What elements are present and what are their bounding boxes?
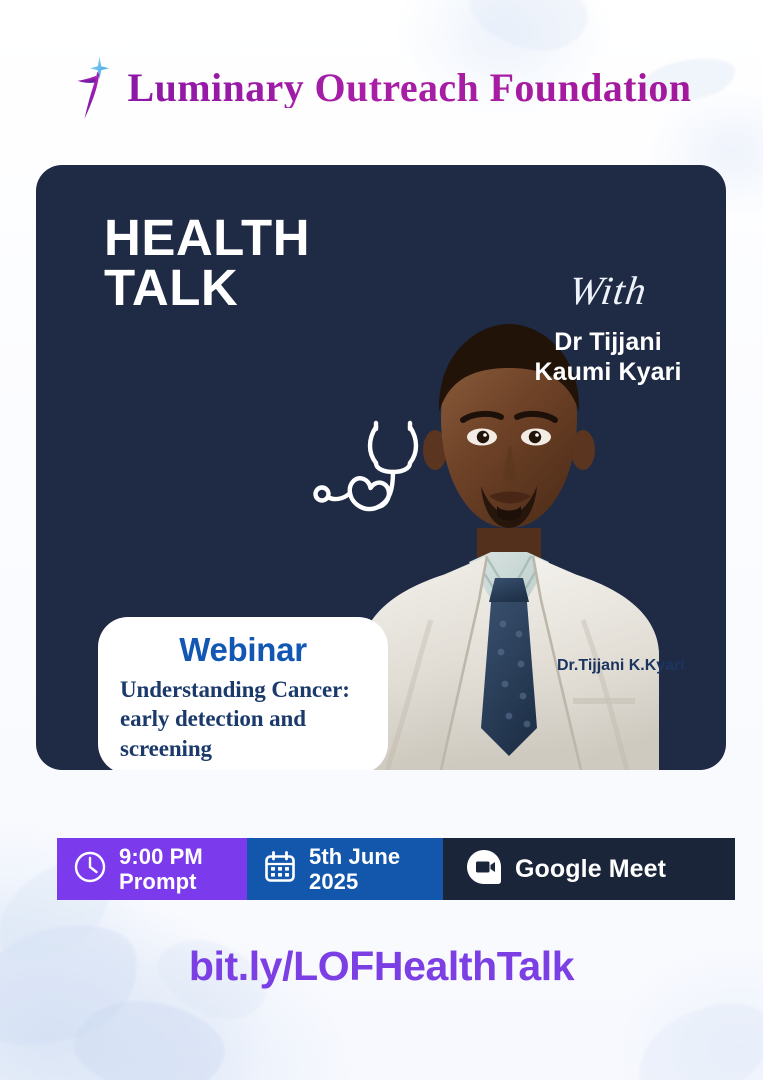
event-time: 9:00 PM Prompt — [119, 844, 203, 894]
background-leaf-watermark — [66, 987, 232, 1080]
speaker-name-line-1: Dr Tijjani — [508, 327, 708, 357]
event-date-line-2: 2025 — [309, 869, 400, 894]
title-line-1: HEALTH — [104, 213, 310, 263]
title-line-2: TALK — [104, 263, 310, 313]
speaker-name: Dr Tijjani Kaumi Kyari — [508, 327, 708, 387]
event-time-line-2: Prompt — [119, 869, 203, 894]
background-leaf-watermark — [623, 987, 763, 1080]
clock-icon — [73, 850, 107, 889]
event-time-line-1: 9:00 PM — [119, 844, 203, 869]
stethoscope-heart-icon — [306, 413, 424, 525]
info-segment-platform: Google Meet — [443, 838, 735, 900]
webinar-topic: Understanding Cancer: early detection an… — [120, 675, 366, 763]
hero-card: HEALTH TALK — [36, 165, 726, 770]
flyer-canvas: Luminary Outreach Foundation HEALTH TALK — [0, 0, 763, 1080]
brand-name: Luminary Outreach Foundation — [128, 68, 692, 108]
speaker-block: With Dr Tijjani Kaumi Kyari — [508, 271, 708, 387]
google-meet-icon — [465, 848, 503, 891]
event-date: 5th June 2025 — [309, 844, 400, 894]
coat-badge-text: Dr.Tijjani K.Kyari — [557, 657, 685, 674]
calendar-icon — [263, 850, 297, 889]
with-label: With — [505, 271, 711, 311]
registration-link[interactable]: bit.ly/LOFHealthTalk — [0, 943, 763, 990]
page-title: HEALTH TALK — [104, 213, 310, 314]
event-date-line-1: 5th June — [309, 844, 400, 869]
speaker-name-line-2: Kaumi Kyari — [508, 357, 708, 387]
event-platform: Google Meet — [515, 855, 666, 884]
brand-header: Luminary Outreach Foundation — [0, 52, 763, 124]
webinar-heading: Webinar — [120, 633, 366, 668]
info-segment-time: 9:00 PM Prompt — [57, 838, 247, 900]
event-info-bar: 9:00 PM Prompt — [57, 838, 735, 900]
info-segment-date: 5th June 2025 — [247, 838, 443, 900]
luminary-figure-star-icon — [72, 55, 114, 121]
webinar-callout: Webinar Understanding Cancer: early dete… — [98, 617, 388, 770]
